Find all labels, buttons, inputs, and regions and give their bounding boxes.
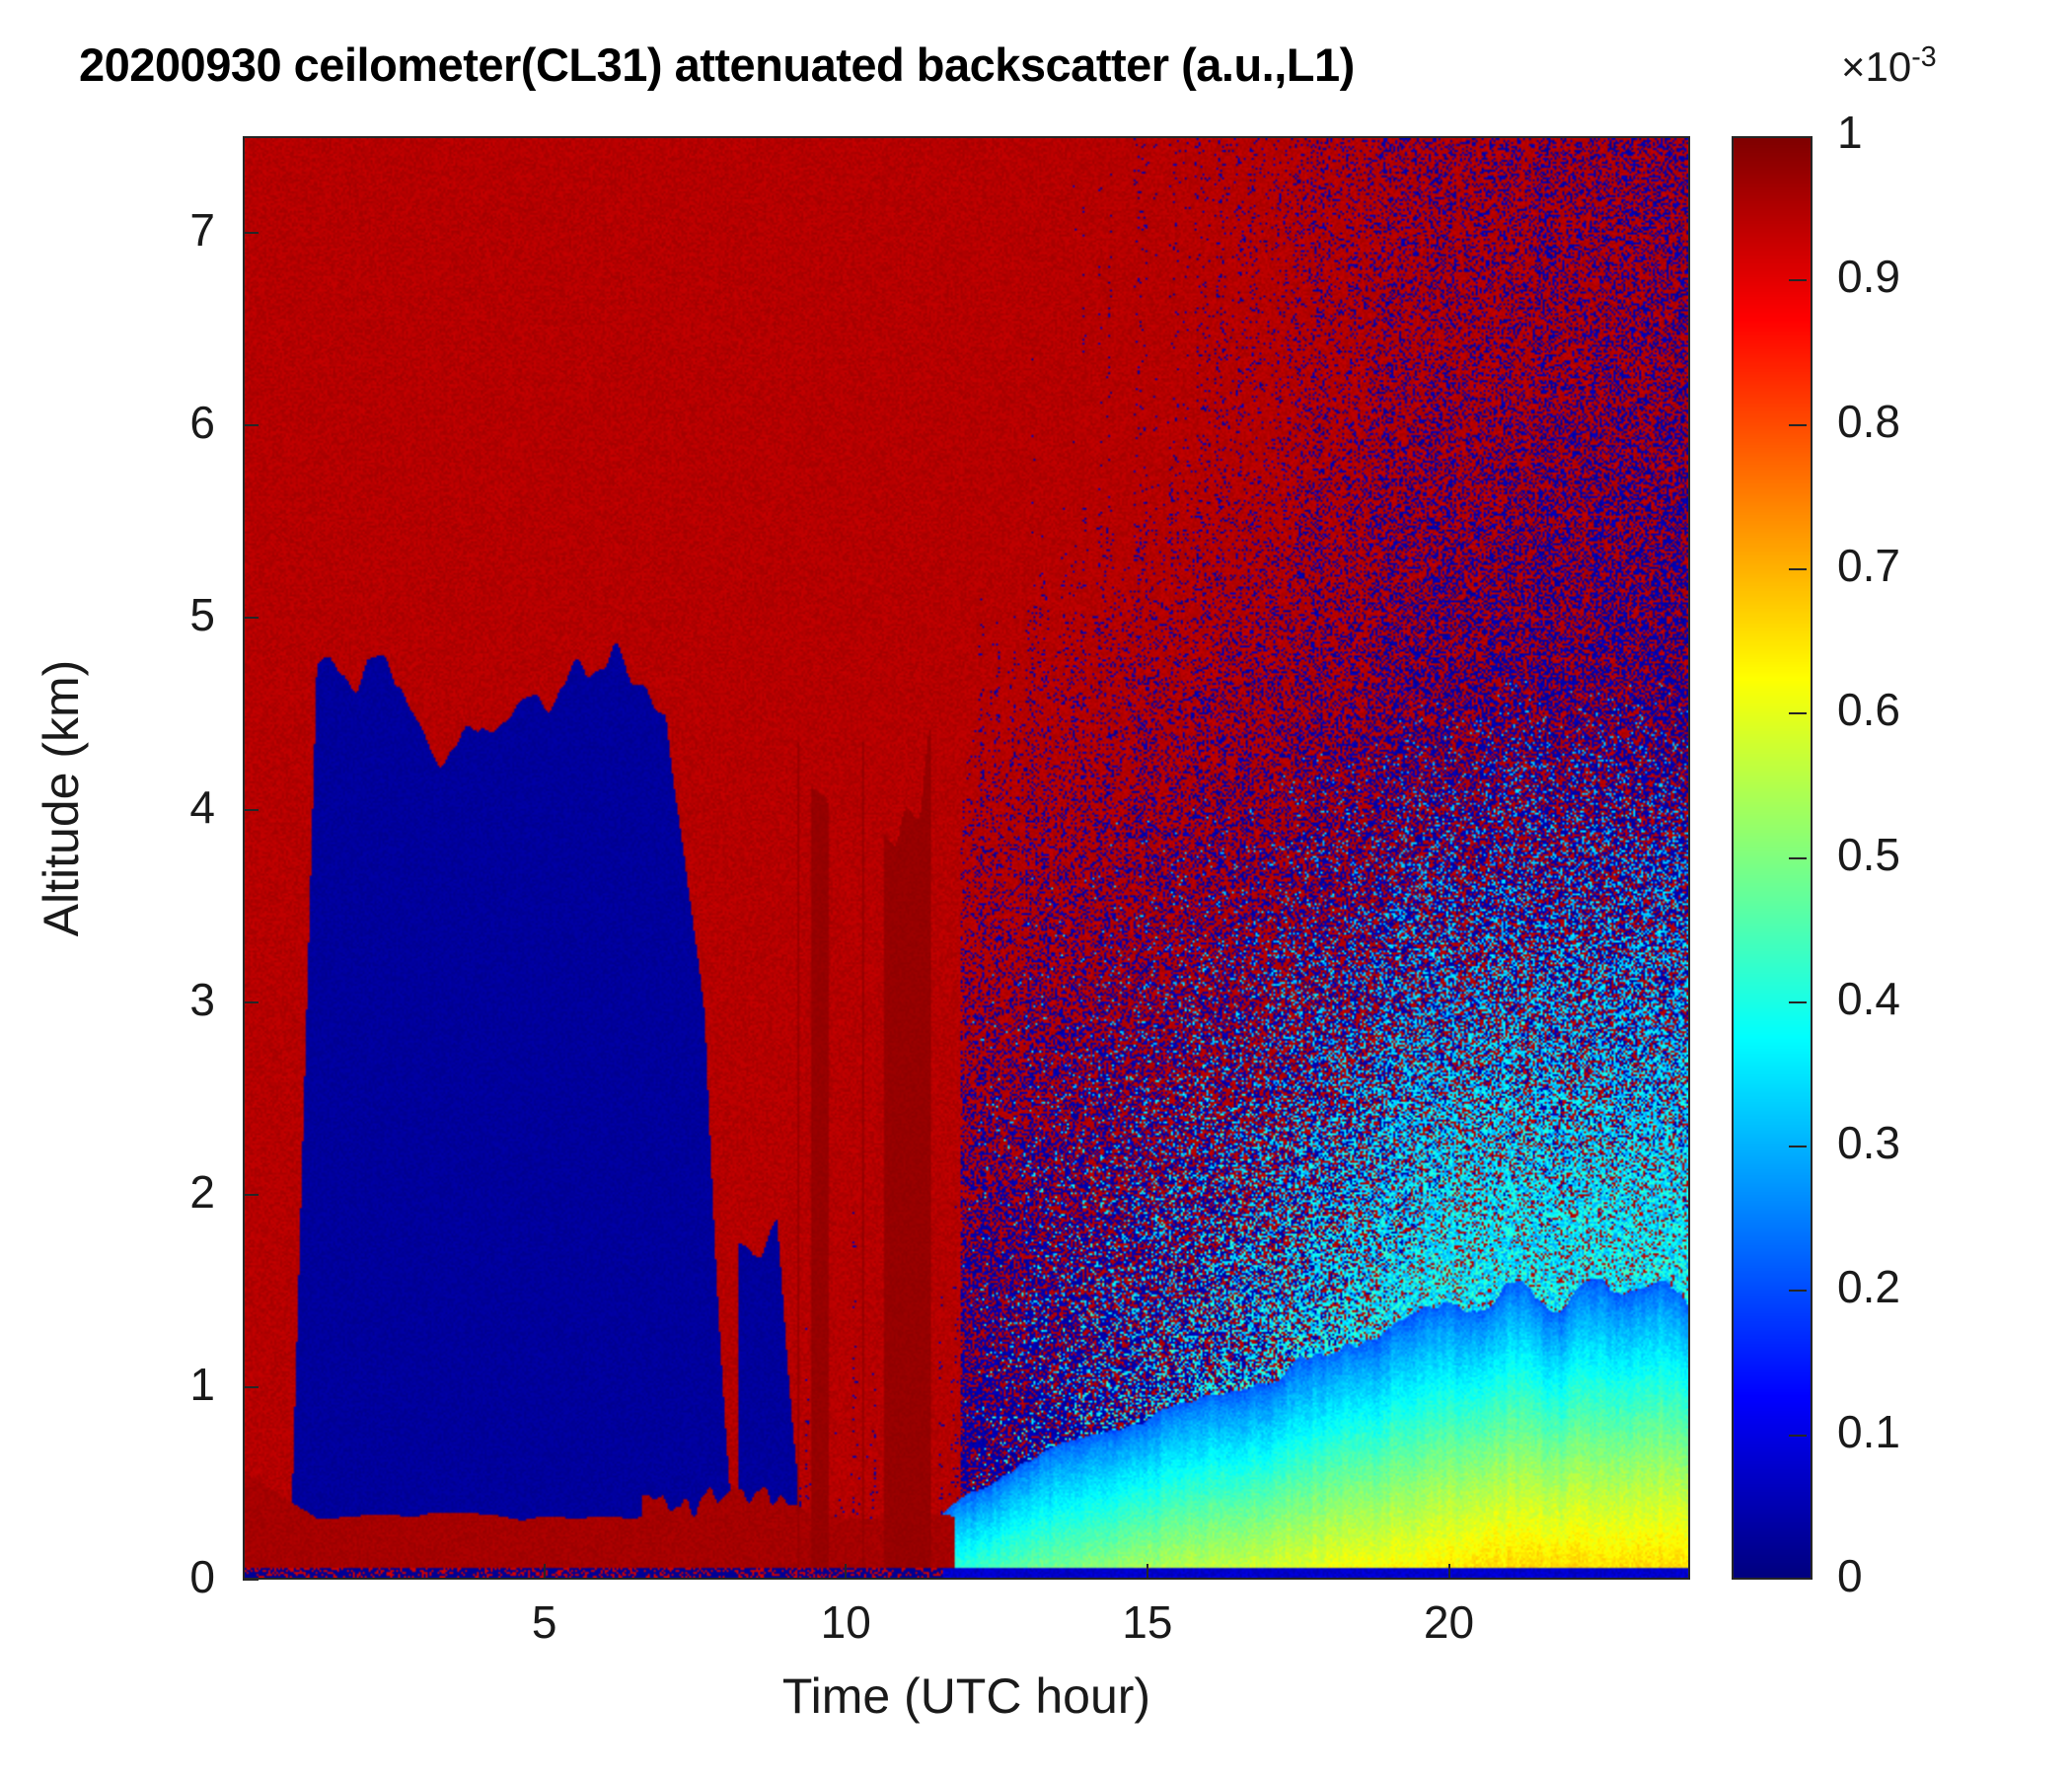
x-tick-mark bbox=[544, 1564, 546, 1580]
y-tick-label: 4 bbox=[126, 780, 215, 834]
y-tick-mark bbox=[243, 1386, 259, 1388]
y-tick-label: 1 bbox=[126, 1358, 215, 1411]
x-tick-label: 15 bbox=[1088, 1595, 1207, 1649]
y-tick-label: 0 bbox=[126, 1550, 215, 1603]
y-tick-label: 6 bbox=[126, 396, 215, 449]
x-axis-label: Time (UTC hour) bbox=[243, 1667, 1690, 1725]
y-tick-mark bbox=[243, 617, 259, 619]
colorbar-tick-label: 0.1 bbox=[1837, 1405, 1900, 1458]
y-tick-mark bbox=[243, 809, 259, 811]
colorbar-tick-mark bbox=[1789, 424, 1807, 426]
heatmap-axes bbox=[243, 136, 1690, 1580]
colorbar-exponent: -3 bbox=[1911, 41, 1936, 73]
colorbar-tick-mark bbox=[1789, 568, 1807, 570]
colorbar-tick-label: 0.7 bbox=[1837, 539, 1900, 592]
y-tick-mark bbox=[243, 232, 259, 234]
colorbar-tick-mark bbox=[1789, 279, 1807, 281]
y-tick-mark bbox=[243, 1579, 259, 1581]
colorbar-tick-label: 1 bbox=[1837, 106, 1863, 159]
colorbar-tick-mark bbox=[1789, 1290, 1807, 1292]
x-tick-mark bbox=[845, 1564, 847, 1580]
x-tick-label: 5 bbox=[485, 1595, 604, 1649]
colorbar-tick-label: 0.3 bbox=[1837, 1116, 1900, 1169]
y-tick-label: 7 bbox=[126, 203, 215, 257]
colorbar-tick-mark bbox=[1789, 1001, 1807, 1003]
colorbar-tick-mark bbox=[1789, 712, 1807, 714]
x-tick-mark bbox=[1448, 1564, 1450, 1580]
y-axis-label: Altitude (km) bbox=[33, 532, 90, 1065]
page-title: 20200930 ceilometer(CL31) attenuated bac… bbox=[79, 37, 1355, 92]
x-tick-mark bbox=[1147, 1564, 1148, 1580]
y-tick-label: 5 bbox=[126, 588, 215, 641]
colorbar-tick-label: 0.6 bbox=[1837, 683, 1900, 736]
y-tick-label: 2 bbox=[126, 1165, 215, 1219]
colorbar-tick-mark bbox=[1789, 857, 1807, 859]
colorbar-tick-label: 0.5 bbox=[1837, 828, 1900, 881]
x-tick-label: 20 bbox=[1390, 1595, 1509, 1649]
ceilometer-figure: 20200930 ceilometer(CL31) attenuated bac… bbox=[0, 0, 2072, 1776]
colorbar-tick-mark bbox=[1789, 1146, 1807, 1147]
x-tick-label: 10 bbox=[786, 1595, 905, 1649]
colorbar-tick-label: 0.2 bbox=[1837, 1260, 1900, 1313]
colorbar-tick-mark bbox=[1789, 1435, 1807, 1437]
backscatter-heatmap bbox=[245, 138, 1688, 1578]
y-tick-mark bbox=[243, 424, 259, 426]
colorbar-tick-label: 0 bbox=[1837, 1549, 1863, 1602]
colorbar-tick-label: 0.4 bbox=[1837, 972, 1900, 1025]
y-tick-mark bbox=[243, 1001, 259, 1003]
y-tick-mark bbox=[243, 1194, 259, 1196]
colorbar-exponent-label: ×10-3 bbox=[1841, 41, 1937, 91]
colorbar-tick-label: 0.8 bbox=[1837, 395, 1900, 448]
colorbar-tick-label: 0.9 bbox=[1837, 250, 1900, 303]
y-tick-label: 3 bbox=[126, 973, 215, 1026]
colorbar-multiplier: ×10 bbox=[1841, 43, 1911, 90]
